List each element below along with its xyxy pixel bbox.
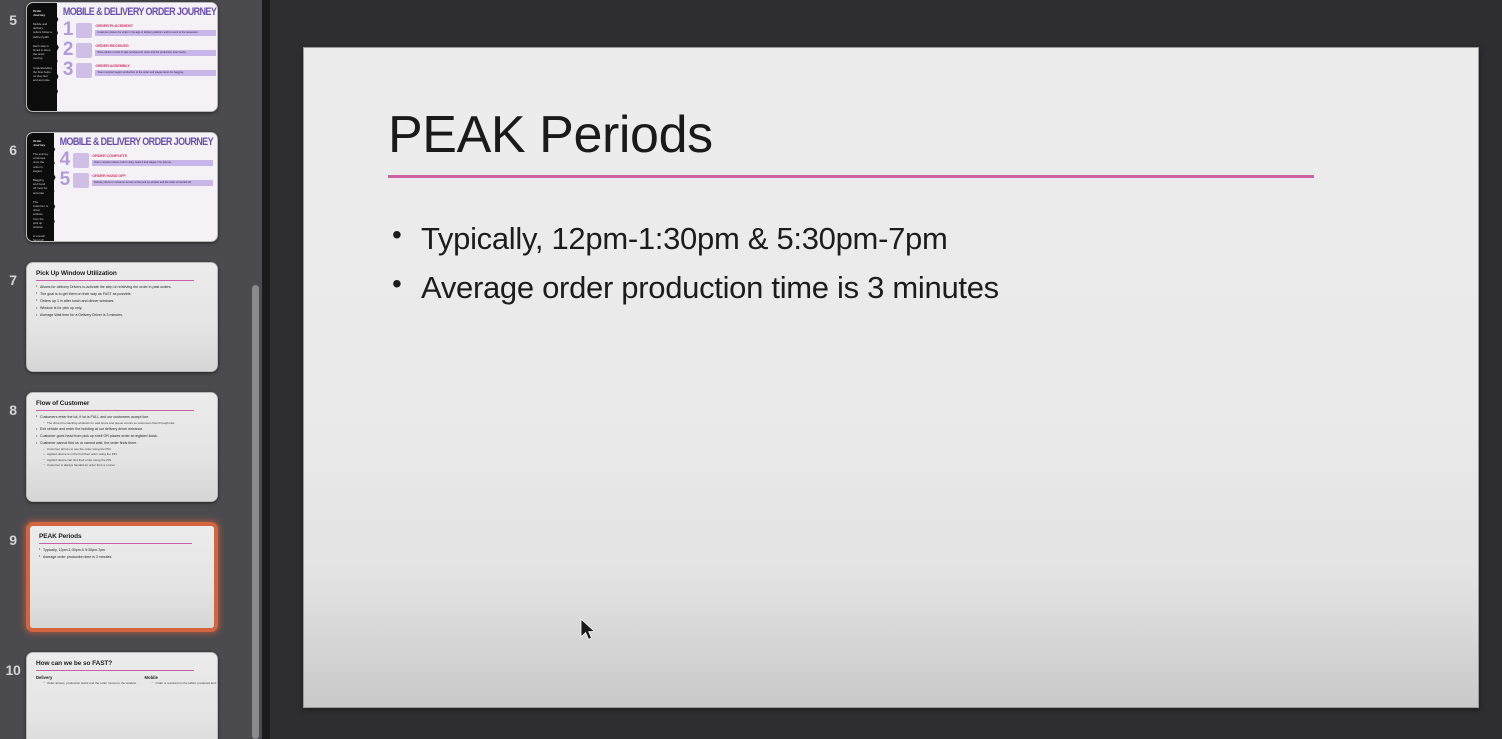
slide-thumbnail-frame[interactable]: Flow of Customer Customers enter the lot… [26,392,218,502]
thumb-step: 2 ORDER RECEIVED Store tablet or point o… [63,42,216,58]
thumb-main-panel: MOBILE & DELIVERY ORDER JOURNEY 1 ORDER … [57,3,218,111]
slide-thumbnail-frame-selected[interactable]: PEAK Periods Typically, 12pm-1:30pm & 5:… [26,522,218,632]
slide-thumbnail-10[interactable]: 10 How can we be so FAST? Delivery Order… [0,652,250,739]
slide-thumbnail-6[interactable]: 6 Order Journey The journey continues on… [0,132,250,262]
thumb-sidebar-panel: Order Journey Mobile and delivery orders… [27,3,57,111]
thumb-sub-bullet: Customer is always handed an order from … [36,464,208,468]
thumb-left-paragraph: The journey continues once the order is … [33,152,49,173]
thumb-step-body: Team member places order in bag, seals i… [92,160,213,167]
thumb-bullet: Average order production time is 3 minut… [39,555,205,559]
thumb-title: Pick Up Window Utilization [36,270,208,277]
thumb-sub-bullet: The drive thru stacking windows for wait… [36,422,208,426]
thumb-bullet: Exit vehicle and enter the building at o… [36,427,208,431]
thumb-step-number: 5 [60,172,71,187]
bagging-icon [73,153,89,168]
thumb-sub-bullet: Applied device can find their order usin… [36,459,208,463]
thumb-step: 5 ORDER HAND OFF Delivery driver or cust… [60,172,213,188]
slide-thumbnail-content: Flow of Customer Customers enter the lot… [27,393,217,501]
thumb-bullet: Average Wait time for a Delivery Driver … [36,313,208,317]
thumbnail-scrollbar-track[interactable] [251,0,260,739]
slide-number-7: 7 [0,262,26,288]
slide-bullet-1[interactable]: Typically, 12pm-1:30pm & 5:30pm-7pm [388,223,1438,254]
thumb-title: PEAK Periods [39,533,205,540]
thumb-step-label: ORDER PLACEMENT [95,23,216,28]
thumb-title: Flow of Customer [36,400,208,407]
pane-divider[interactable] [262,0,270,739]
thumb-bullet: Customer cannot find us or cannot wait, … [36,441,208,445]
thumb-step-number: 2 [63,42,74,57]
thumb-bullet: Typically, 12pm-1:30pm & 5:30pm-7pm [39,548,205,552]
thumb-bullet-list: Customers enter the lot, if lot is FULL … [36,415,208,468]
slide-thumbnail-5[interactable]: 5 Order Journey Mobile and delivery orde… [0,2,250,132]
active-slide-canvas[interactable]: PEAK Periods Typically, 12pm-1:30pm & 5:… [303,47,1479,708]
thumb-left-paragraph: Bagging and hand off must be accurate [33,178,49,195]
slide-number-9: 9 [0,522,26,548]
slide-title-underline [388,175,1314,178]
tablet-receipt-icon [76,43,92,58]
thumb-step-label: ORDER COMPLETE [92,153,213,158]
thumb-left-heading: Order Journey [33,9,52,17]
thumb-title-rule [36,280,194,281]
thumb-step-label: ORDER ASSEMBLY [95,63,216,68]
slide-title[interactable]: PEAK Periods [388,108,713,163]
slide-thumbnail-7[interactable]: 7 Pick Up Window Utilization Allows for … [0,262,250,392]
thumb-column-mobile: Mobile Order is received on the tablet, … [145,675,218,687]
thumb-step: 4 ORDER COMPLETE Team member places orde… [60,152,213,168]
thumb-step-body: Delivery driver or customer arrives at t… [92,180,213,187]
slide-thumbnail-content: Order Journey Mobile and delivery orders… [27,3,217,111]
thumb-title: How can we be so FAST? [36,660,208,667]
slide-thumbnail-pane[interactable]: 4 5 [0,0,262,739]
thumb-left-paragraph: The customer or driver collects from the… [33,200,49,229]
slide-thumbnail-strip: 4 5 [0,0,250,739]
thumb-left-heading: Order Journey [33,139,49,147]
slide-thumbnail-frame[interactable]: How can we be so FAST? Delivery Order ar… [26,652,218,739]
slide-thumbnail-content: PEAK Periods Typically, 12pm-1:30pm & 5:… [30,526,214,628]
thumb-title-rule [36,670,194,671]
slide-number-6: 6 [0,132,26,158]
thumb-sub-bullet: Applied device is in the find their orde… [36,453,208,457]
thumb-column-heading: Delivery [36,675,137,680]
thumb-bullet: The goal is to get them on their way as … [36,292,208,296]
thumb-step-body: Customer places the order in the app or … [95,30,216,37]
thumb-bullet: Customers enter the lot, if lot is FULL … [36,415,208,419]
thumb-step-label: ORDER HAND OFF [92,173,213,178]
thumb-column-delivery: Delivery Order arrives, production start… [36,675,137,687]
slide-number-10: 10 [0,652,26,678]
slide-thumbnail-9[interactable]: 9 PEAK Periods Typically, 12pm-1:30pm & … [0,522,250,652]
thumb-step: 3 ORDER ASSEMBLY Team member begins prod… [63,62,216,78]
presentation-editor-window: 4 5 [0,0,1502,739]
thumb-bullet: Window is for pick up only. [36,306,208,310]
thumb-step-number: 3 [63,62,74,77]
slide-thumbnail-frame[interactable]: Order Journey The journey continues once… [26,132,218,242]
slide-thumbnail-content: Pick Up Window Utilization Allows for de… [27,263,217,371]
thumb-sidebar-panel: Order Journey The journey continues once… [27,133,54,241]
thumb-bullet: Allows for delivery Drivers to activate … [36,285,208,289]
thumb-step-number: 4 [60,152,71,167]
thumb-step-label: ORDER RECEIVED [95,43,216,48]
thumb-title-rule [39,543,192,544]
thumb-bullet: Orders up 1 in after lunch and dinner wi… [36,299,208,303]
slide-bullet-2[interactable]: Average order production time is 3 minut… [388,272,1438,303]
slide-thumbnail-content: How can we be so FAST? Delivery Order ar… [27,653,217,739]
slide-thumbnail-8[interactable]: 8 Flow of Customer Customers enter the l… [0,392,250,522]
slide-thumbnail-frame[interactable]: Pick Up Window Utilization Allows for de… [26,262,218,372]
scooter-delivery-icon [73,173,89,188]
thumb-bullet: Customer goes head from pick up shelf OR… [36,434,208,438]
thumb-left-paragraph: Each step is timed to keep the order mov… [33,44,52,61]
food-bag-icon [76,63,92,78]
thumb-left-paragraph: A smooth hand off completes the order cy… [33,234,49,242]
slide-thumbnail-frame[interactable]: Order Journey Mobile and delivery orders… [26,2,218,112]
thumb-bullet-list: Allows for delivery Drivers to activate … [36,285,208,318]
thumb-column-item: Order is received on the tablet, produce… [145,682,218,686]
thumb-left-paragraph: Mobile and delivery orders follow a defi… [33,22,52,39]
slide-number-8: 8 [0,392,26,418]
thumb-infographic-title: MOBILE & DELIVERY ORDER JOURNEY [60,136,213,147]
slide-body-bullet-list[interactable]: Typically, 12pm-1:30pm & 5:30pm-7pm Aver… [388,223,1438,321]
thumb-title-rule [36,410,194,411]
slide-number-5: 5 [0,2,26,28]
thumb-step-number: 1 [63,22,74,37]
thumb-left-paragraph: Understanding the flow helps us stay fas… [33,66,52,83]
phone-order-icon [76,23,92,38]
thumb-two-column-layout: Delivery Order arrives, production start… [36,675,208,687]
thumb-step-body: Store tablet or point of sale receives t… [95,50,216,57]
thumb-step-body: Team member begins production of the ord… [95,70,216,77]
slide-thumbnail-content: Order Journey The journey continues once… [27,133,217,241]
thumb-infographic-title: MOBILE & DELIVERY ORDER JOURNEY [63,6,216,17]
thumb-main-panel: MOBILE & DELIVERY ORDER JOURNEY 4 ORDER … [54,133,217,241]
thumb-step: 1 ORDER PLACEMENT Customer places the or… [63,22,216,38]
thumb-sub-bullet: Customer arrives to see the order using … [36,448,208,452]
thumb-column-heading: Mobile [145,675,218,680]
slide-stage: PEAK Periods Typically, 12pm-1:30pm & 5:… [270,0,1502,739]
thumb-column-item: Order arrives, production starts and the… [36,682,137,686]
thumb-bullet-list: Typically, 12pm-1:30pm & 5:30pm-7pm Aver… [39,548,205,560]
thumbnail-scrollbar-thumb[interactable] [252,285,259,739]
